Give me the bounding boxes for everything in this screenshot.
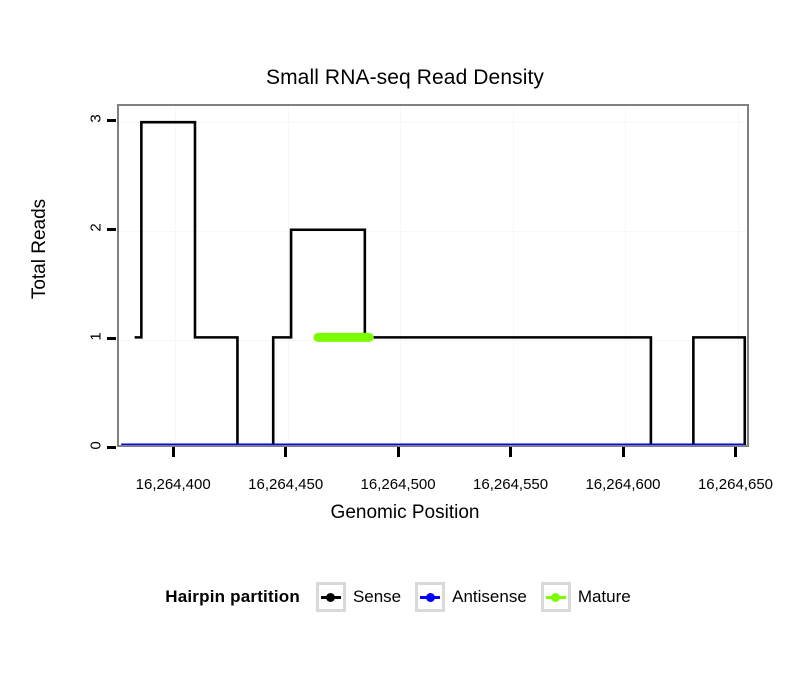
legend-item-label: Mature: [578, 587, 631, 607]
x-tick-label: 16,264,650: [666, 476, 806, 493]
chart-legend: Hairpin partition SenseAntisenseMature: [0, 582, 810, 612]
y-tick-label-text: 3: [87, 115, 104, 123]
y-tick-label: 1: [0, 328, 100, 345]
legend-item-label: Sense: [353, 587, 401, 607]
legend-item-mature[interactable]: Mature: [541, 582, 631, 612]
legend-items: SenseAntisenseMature: [316, 582, 645, 612]
plot-area: [119, 106, 747, 445]
y-tick-label-text: 1: [87, 332, 104, 340]
x-tick-mark: [284, 447, 287, 457]
legend-key-swatch: [541, 582, 571, 612]
x-tick-mark: [622, 447, 625, 457]
y-tick-label-text: 0: [87, 441, 104, 449]
legend-point-icon: [551, 593, 560, 602]
y-tick-label: 3: [0, 110, 100, 127]
chart-title: Small RNA-seq Read Density: [0, 66, 810, 90]
x-tick-mark: [509, 447, 512, 457]
legend-key-swatch: [415, 582, 445, 612]
chart-figure: Small RNA-seq Read Density Total Reads 0…: [0, 0, 810, 690]
legend-item-antisense[interactable]: Antisense: [415, 582, 527, 612]
x-tick-mark: [734, 447, 737, 457]
legend-point-icon: [426, 593, 435, 602]
legend-item-sense[interactable]: Sense: [316, 582, 401, 612]
series-sense: [135, 122, 745, 445]
legend-item-label: Antisense: [452, 587, 527, 607]
legend-key-swatch: [316, 582, 346, 612]
y-tick-mark: [107, 337, 116, 340]
x-tick-mark: [397, 447, 400, 457]
legend-point-icon: [326, 593, 335, 602]
y-tick-label: 2: [0, 219, 100, 236]
x-axis-title: Genomic Position: [0, 502, 810, 524]
legend-title: Hairpin partition: [165, 587, 300, 607]
y-tick-mark: [107, 446, 116, 449]
y-axis-title: Total Reads: [29, 149, 51, 349]
x-tick-mark: [172, 447, 175, 457]
plot-panel: [117, 104, 749, 447]
y-tick-label: 0: [0, 437, 100, 454]
data-series-layer: [119, 106, 747, 445]
y-tick-mark: [107, 228, 116, 231]
y-tick-mark: [107, 119, 116, 122]
y-tick-label-text: 2: [87, 224, 104, 232]
